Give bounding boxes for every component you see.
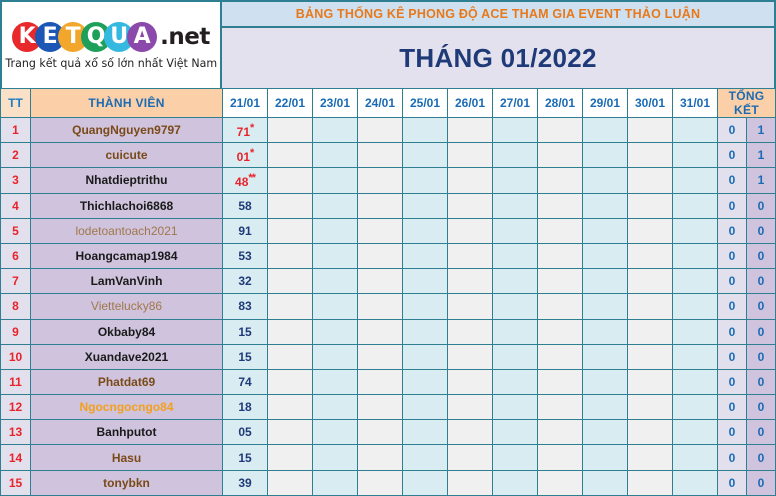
total-primary: 0 <box>718 445 747 470</box>
total-secondary: 0 <box>747 269 776 294</box>
day-value: 58 <box>238 199 251 213</box>
day-cell-21-01[interactable]: 53 <box>223 243 268 268</box>
day-cell-25-01[interactable] <box>403 395 448 420</box>
day-cell-22-01[interactable] <box>268 344 313 369</box>
day-cell-23-01[interactable] <box>313 319 358 344</box>
day-cell-23-01[interactable] <box>313 445 358 470</box>
column-header-date-31-01[interactable]: 31/01 <box>673 89 718 118</box>
day-cell-29-01[interactable] <box>583 193 628 218</box>
total-secondary: 0 <box>747 344 776 369</box>
day-cell-23-01[interactable] <box>313 344 358 369</box>
day-value: 15 <box>238 325 251 339</box>
day-cell-23-01[interactable] <box>313 143 358 168</box>
total-secondary: 0 <box>747 193 776 218</box>
stats-table: TT THÀNH VIÊN 21/0122/0123/0124/0125/012… <box>0 88 776 496</box>
total-primary: 0 <box>718 143 747 168</box>
day-cell-30-01[interactable] <box>628 218 673 243</box>
day-cell-30-01[interactable] <box>628 143 673 168</box>
row-index: 10 <box>1 344 31 369</box>
day-cell-22-01[interactable] <box>268 118 313 143</box>
table-row: 12Ngocngocngo841800 <box>1 395 776 420</box>
total-primary: 0 <box>718 168 747 193</box>
logo-letter-a: A <box>127 22 157 52</box>
day-cell-23-01[interactable] <box>313 269 358 294</box>
table-row: 6Hoangcamap19845300 <box>1 243 776 268</box>
total-secondary: 0 <box>747 369 776 394</box>
day-cell-26-01[interactable] <box>448 168 493 193</box>
day-cell-25-01[interactable] <box>403 294 448 319</box>
logo-graphic: KETQUA .net <box>12 22 210 52</box>
day-value: 48 <box>235 175 248 189</box>
day-cell-30-01[interactable] <box>628 369 673 394</box>
row-index: 7 <box>1 269 31 294</box>
member-name[interactable]: Phatdat69 <box>31 369 223 394</box>
table-body: 1QuangNguyen979771*012cuicute01*013Nhatd… <box>1 118 776 496</box>
day-cell-25-01[interactable] <box>403 319 448 344</box>
day-value: 91 <box>238 224 251 238</box>
total-primary: 0 <box>718 319 747 344</box>
total-secondary: 0 <box>747 395 776 420</box>
table-row: 11Phatdat697400 <box>1 369 776 394</box>
day-cell-28-01[interactable] <box>538 243 583 268</box>
column-header-date-23-01[interactable]: 23/01 <box>313 89 358 118</box>
total-primary: 0 <box>718 395 747 420</box>
day-cell-27-01[interactable] <box>493 269 538 294</box>
row-index: 6 <box>1 243 31 268</box>
total-primary: 0 <box>718 294 747 319</box>
table-row: 1QuangNguyen979771*01 <box>1 118 776 143</box>
table-row: 10Xuandave20211500 <box>1 344 776 369</box>
day-cell-27-01[interactable] <box>493 143 538 168</box>
day-cell-24-01[interactable] <box>358 344 403 369</box>
day-cell-21-01[interactable]: 18 <box>223 395 268 420</box>
day-cell-31-01[interactable] <box>673 269 718 294</box>
day-cell-25-01[interactable] <box>403 369 448 394</box>
logo-letters: KETQUA <box>12 22 150 52</box>
day-cell-30-01[interactable] <box>628 243 673 268</box>
column-header-member[interactable]: THÀNH VIÊN <box>31 89 223 118</box>
day-cell-29-01[interactable] <box>583 118 628 143</box>
column-header-date-29-01[interactable]: 29/01 <box>583 89 628 118</box>
member-name[interactable]: Banhputot <box>31 420 223 445</box>
day-cell-27-01[interactable] <box>493 420 538 445</box>
day-cell-28-01[interactable] <box>538 269 583 294</box>
day-cell-29-01[interactable] <box>583 445 628 470</box>
day-cell-27-01[interactable] <box>493 294 538 319</box>
day-cell-27-01[interactable] <box>493 118 538 143</box>
day-cell-29-01[interactable] <box>583 420 628 445</box>
day-cell-30-01[interactable] <box>628 168 673 193</box>
day-cell-24-01[interactable] <box>358 369 403 394</box>
statistics-page: KETQUA .net Trang kết quả xổ số lớn nhất… <box>0 0 776 492</box>
day-cell-24-01[interactable] <box>358 445 403 470</box>
total-secondary: 0 <box>747 319 776 344</box>
day-cell-21-01[interactable]: 74 <box>223 369 268 394</box>
table-row: 9Okbaby841500 <box>1 319 776 344</box>
day-cell-22-01[interactable] <box>268 369 313 394</box>
day-cell-31-01[interactable] <box>673 319 718 344</box>
day-cell-31-01[interactable] <box>673 294 718 319</box>
day-value: 71 <box>237 125 250 139</box>
day-cell-24-01[interactable] <box>358 420 403 445</box>
member-name[interactable]: QuangNguyen9797 <box>31 118 223 143</box>
column-header-date-28-01[interactable]: 28/01 <box>538 89 583 118</box>
total-secondary: 1 <box>747 118 776 143</box>
row-index: 12 <box>1 395 31 420</box>
day-cell-21-01[interactable]: 15 <box>223 319 268 344</box>
day-cell-31-01[interactable] <box>673 168 718 193</box>
day-cell-25-01[interactable] <box>403 168 448 193</box>
day-cell-22-01[interactable] <box>268 143 313 168</box>
member-name[interactable]: LamVanVinh <box>31 269 223 294</box>
day-cell-24-01[interactable] <box>358 193 403 218</box>
day-cell-27-01[interactable] <box>493 168 538 193</box>
logo-domain-suffix: .net <box>160 24 210 50</box>
day-cell-28-01[interactable] <box>538 420 583 445</box>
day-cell-28-01[interactable] <box>538 118 583 143</box>
column-header-date-30-01[interactable]: 30/01 <box>628 89 673 118</box>
total-secondary: 0 <box>747 243 776 268</box>
day-cell-22-01[interactable] <box>268 269 313 294</box>
day-cell-25-01[interactable] <box>403 445 448 470</box>
banner-strip: BẢNG THỐNG KÊ PHONG ĐỘ ACE THAM GIA EVEN… <box>222 2 774 28</box>
day-cell-29-01[interactable] <box>583 319 628 344</box>
total-secondary: 1 <box>747 143 776 168</box>
day-cell-27-01[interactable] <box>493 369 538 394</box>
logo-tagline: Trang kết quả xổ số lớn nhất Việt Nam <box>5 56 217 70</box>
row-index: 9 <box>1 319 31 344</box>
day-cell-23-01[interactable] <box>313 168 358 193</box>
day-cell-31-01[interactable] <box>673 395 718 420</box>
row-index: 13 <box>1 420 31 445</box>
day-cell-26-01[interactable] <box>448 143 493 168</box>
total-primary: 0 <box>718 344 747 369</box>
day-cell-30-01[interactable] <box>628 118 673 143</box>
column-header-date-27-01[interactable]: 27/01 <box>493 89 538 118</box>
day-cell-25-01[interactable] <box>403 344 448 369</box>
day-cell-31-01[interactable] <box>673 243 718 268</box>
row-index: 2 <box>1 143 31 168</box>
day-cell-28-01[interactable] <box>538 445 583 470</box>
day-cell-28-01[interactable] <box>538 395 583 420</box>
banner-text: BẢNG THỐNG KÊ PHONG ĐỘ ACE THAM GIA EVEN… <box>296 7 700 21</box>
day-cell-24-01[interactable] <box>358 395 403 420</box>
member-name[interactable]: Viettelucky86 <box>31 294 223 319</box>
day-cell-31-01[interactable] <box>673 193 718 218</box>
member-name[interactable]: cuicute <box>31 143 223 168</box>
day-cell-26-01[interactable] <box>448 369 493 394</box>
day-value: 15 <box>238 350 251 364</box>
day-cell-29-01[interactable] <box>583 269 628 294</box>
row-index: 11 <box>1 369 31 394</box>
day-cell-27-01[interactable] <box>493 319 538 344</box>
day-cell-22-01[interactable] <box>268 294 313 319</box>
table-row: 13Banhputot0500 <box>1 420 776 445</box>
day-cell-22-01[interactable] <box>268 168 313 193</box>
day-value: 01 <box>237 150 250 164</box>
day-cell-26-01[interactable] <box>448 294 493 319</box>
day-cell-31-01[interactable] <box>673 218 718 243</box>
day-cell-24-01[interactable] <box>358 143 403 168</box>
day-cell-23-01[interactable] <box>313 294 358 319</box>
month-title: THÁNG 01/2022 <box>399 43 597 74</box>
column-header-date-24-01[interactable]: 24/01 <box>358 89 403 118</box>
day-cell-29-01[interactable] <box>583 294 628 319</box>
day-cell-23-01[interactable] <box>313 193 358 218</box>
row-index: 8 <box>1 294 31 319</box>
day-cell-25-01[interactable] <box>403 218 448 243</box>
day-cell-29-01[interactable] <box>583 168 628 193</box>
day-cell-24-01[interactable] <box>358 269 403 294</box>
day-cell-29-01[interactable] <box>583 143 628 168</box>
member-name[interactable]: Hoangcamap1984 <box>31 243 223 268</box>
day-cell-28-01[interactable] <box>538 294 583 319</box>
day-cell-23-01[interactable] <box>313 395 358 420</box>
star-marker: * <box>250 122 253 134</box>
day-cell-21-01[interactable]: 91 <box>223 218 268 243</box>
total-primary: 0 <box>718 269 747 294</box>
day-cell-21-01[interactable]: 83 <box>223 294 268 319</box>
total-primary: 0 <box>718 193 747 218</box>
day-cell-22-01[interactable] <box>268 193 313 218</box>
member-name[interactable]: Thichlachoi6868 <box>31 193 223 218</box>
member-name[interactable]: Xuandave2021 <box>31 344 223 369</box>
day-cell-26-01[interactable] <box>448 445 493 470</box>
total-secondary: 1 <box>747 168 776 193</box>
day-cell-26-01[interactable] <box>448 420 493 445</box>
day-value: 83 <box>238 299 251 313</box>
day-cell-29-01[interactable] <box>583 243 628 268</box>
day-cell-23-01[interactable] <box>313 218 358 243</box>
site-logo[interactable]: KETQUA .net Trang kết quả xổ số lớn nhất… <box>2 2 222 88</box>
day-cell-23-01[interactable] <box>313 420 358 445</box>
day-cell-22-01[interactable] <box>268 420 313 445</box>
table-row: 14Hasu1500 <box>1 445 776 470</box>
star-marker: * <box>250 147 253 159</box>
day-value: 18 <box>238 400 251 414</box>
day-cell-27-01[interactable] <box>493 395 538 420</box>
day-cell-29-01[interactable] <box>583 218 628 243</box>
day-cell-30-01[interactable] <box>628 269 673 294</box>
day-cell-31-01[interactable] <box>673 344 718 369</box>
day-cell-24-01[interactable] <box>358 243 403 268</box>
day-value: 05 <box>238 425 251 439</box>
day-cell-30-01[interactable] <box>628 319 673 344</box>
total-secondary: 0 <box>747 294 776 319</box>
day-cell-26-01[interactable] <box>448 118 493 143</box>
table-row: 2cuicute01*01 <box>1 143 776 168</box>
day-cell-21-01[interactable]: 15 <box>223 344 268 369</box>
day-cell-23-01[interactable] <box>313 243 358 268</box>
day-cell-26-01[interactable] <box>448 243 493 268</box>
day-cell-22-01[interactable] <box>268 243 313 268</box>
day-cell-30-01[interactable] <box>628 395 673 420</box>
row-index: 3 <box>1 168 31 193</box>
day-value: 32 <box>238 274 251 288</box>
total-secondary: 0 <box>747 420 776 445</box>
total-primary: 0 <box>718 420 747 445</box>
day-cell-31-01[interactable] <box>673 143 718 168</box>
day-cell-22-01[interactable] <box>268 319 313 344</box>
column-header-index[interactable]: TT <box>1 89 31 118</box>
day-cell-25-01[interactable] <box>403 269 448 294</box>
title-block: BẢNG THỐNG KÊ PHONG ĐỘ ACE THAM GIA EVEN… <box>222 2 774 88</box>
day-cell-31-01[interactable] <box>673 118 718 143</box>
day-cell-25-01[interactable] <box>403 118 448 143</box>
day-cell-24-01[interactable] <box>358 294 403 319</box>
day-cell-21-01[interactable]: 01* <box>223 143 268 168</box>
day-cell-21-01[interactable]: 58 <box>223 193 268 218</box>
row-index: 4 <box>1 193 31 218</box>
day-cell-26-01[interactable] <box>448 344 493 369</box>
day-cell-24-01[interactable] <box>358 218 403 243</box>
day-cell-24-01[interactable] <box>358 168 403 193</box>
day-cell-25-01[interactable] <box>403 243 448 268</box>
day-cell-28-01[interactable] <box>538 218 583 243</box>
day-cell-30-01[interactable] <box>628 420 673 445</box>
day-value: 74 <box>238 375 251 389</box>
day-cell-28-01[interactable] <box>538 369 583 394</box>
day-cell-22-01[interactable] <box>268 218 313 243</box>
day-cell-21-01[interactable]: 48** <box>223 168 268 193</box>
day-cell-27-01[interactable] <box>493 344 538 369</box>
month-strip: THÁNG 01/2022 <box>222 28 774 88</box>
star-marker: ** <box>248 172 255 184</box>
table-header: TT THÀNH VIÊN 21/0122/0123/0124/0125/012… <box>1 89 776 118</box>
day-cell-22-01[interactable] <box>268 445 313 470</box>
day-cell-26-01[interactable] <box>448 319 493 344</box>
day-cell-30-01[interactable] <box>628 445 673 470</box>
column-header-date-21-01[interactable]: 21/01 <box>223 89 268 118</box>
table-row: 4Thichlachoi68685800 <box>1 193 776 218</box>
day-cell-21-01[interactable]: 15 <box>223 445 268 470</box>
table-row: 7LamVanVinh3200 <box>1 269 776 294</box>
day-cell-26-01[interactable] <box>448 395 493 420</box>
day-cell-27-01[interactable] <box>493 243 538 268</box>
day-cell-28-01[interactable] <box>538 143 583 168</box>
member-name[interactable]: Nhatdieptrithu <box>31 168 223 193</box>
day-value: 53 <box>238 249 251 263</box>
day-cell-29-01[interactable] <box>583 369 628 394</box>
day-cell-31-01[interactable] <box>673 369 718 394</box>
column-header-date-25-01[interactable]: 25/01 <box>403 89 448 118</box>
day-cell-24-01[interactable] <box>358 319 403 344</box>
day-cell-25-01[interactable] <box>403 420 448 445</box>
day-cell-29-01[interactable] <box>583 344 628 369</box>
column-header-date-26-01[interactable]: 26/01 <box>448 89 493 118</box>
day-cell-23-01[interactable] <box>313 369 358 394</box>
day-cell-31-01[interactable] <box>673 445 718 470</box>
day-cell-28-01[interactable] <box>538 344 583 369</box>
member-name[interactable]: Ngocngocngo84 <box>31 395 223 420</box>
total-primary: 0 <box>718 118 747 143</box>
table-row: 5lodetoantoach20219100 <box>1 218 776 243</box>
day-cell-27-01[interactable] <box>493 218 538 243</box>
member-name[interactable]: Hasu <box>31 445 223 470</box>
total-secondary: 0 <box>747 445 776 470</box>
day-cell-21-01[interactable]: 71* <box>223 118 268 143</box>
day-cell-21-01[interactable]: 05 <box>223 420 268 445</box>
day-cell-22-01[interactable] <box>268 395 313 420</box>
day-cell-30-01[interactable] <box>628 294 673 319</box>
day-cell-23-01[interactable] <box>313 118 358 143</box>
total-primary: 0 <box>718 243 747 268</box>
day-cell-27-01[interactable] <box>493 193 538 218</box>
day-cell-30-01[interactable] <box>628 344 673 369</box>
row-index: 1 <box>1 118 31 143</box>
table-row: 8Viettelucky868300 <box>1 294 776 319</box>
day-value: 39 <box>238 476 251 490</box>
member-name[interactable]: Okbaby84 <box>31 319 223 344</box>
header-row: TT THÀNH VIÊN 21/0122/0123/0124/0125/012… <box>1 89 776 118</box>
page-header: KETQUA .net Trang kết quả xổ số lớn nhất… <box>0 0 776 88</box>
row-index: 14 <box>1 445 31 470</box>
total-secondary: 0 <box>747 218 776 243</box>
day-cell-28-01[interactable] <box>538 319 583 344</box>
day-cell-25-01[interactable] <box>403 193 448 218</box>
day-cell-25-01[interactable] <box>403 143 448 168</box>
day-cell-31-01[interactable] <box>673 420 718 445</box>
total-primary: 0 <box>718 218 747 243</box>
day-cell-24-01[interactable] <box>358 118 403 143</box>
day-cell-21-01[interactable]: 32 <box>223 269 268 294</box>
day-cell-29-01[interactable] <box>583 395 628 420</box>
day-cell-28-01[interactable] <box>538 193 583 218</box>
day-cell-26-01[interactable] <box>448 269 493 294</box>
column-header-date-22-01[interactable]: 22/01 <box>268 89 313 118</box>
day-cell-26-01[interactable] <box>448 218 493 243</box>
member-name[interactable]: lodetoantoach2021 <box>31 218 223 243</box>
day-cell-27-01[interactable] <box>493 445 538 470</box>
day-cell-30-01[interactable] <box>628 193 673 218</box>
day-cell-26-01[interactable] <box>448 193 493 218</box>
total-primary: 0 <box>718 369 747 394</box>
table-row: 3Nhatdieptrithu48**01 <box>1 168 776 193</box>
column-header-total[interactable]: TỔNG KẾT <box>718 89 776 118</box>
day-cell-28-01[interactable] <box>538 168 583 193</box>
row-index: 5 <box>1 218 31 243</box>
day-value: 15 <box>238 451 251 465</box>
